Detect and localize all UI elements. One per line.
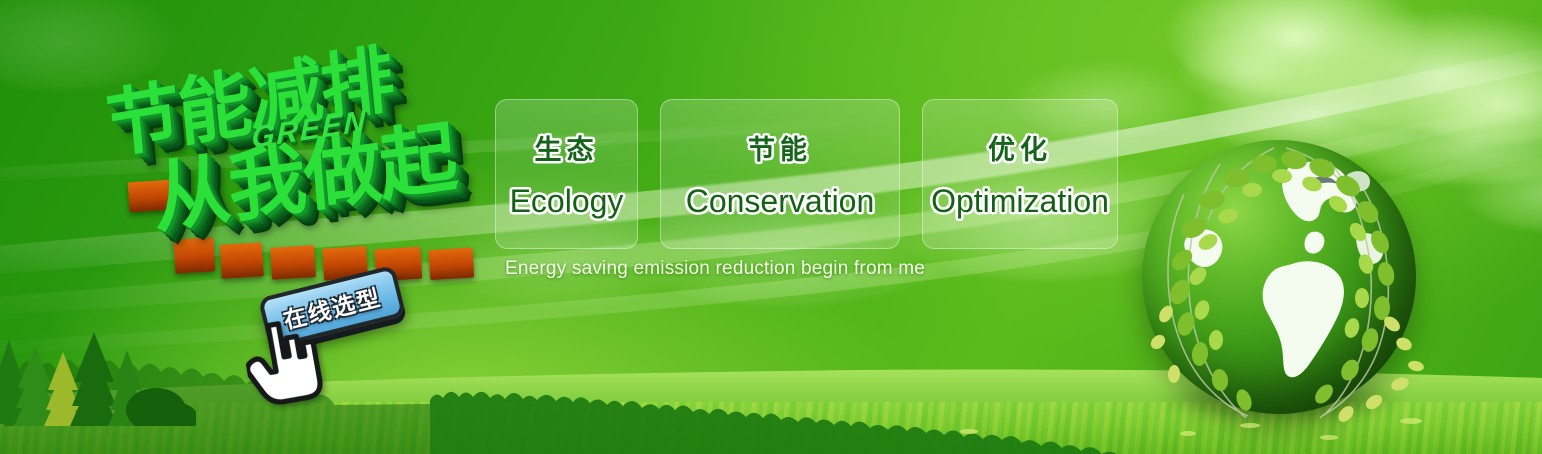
feature-card-cn-label: 生态 — [535, 128, 599, 167]
feature-card-optimization[interactable]: 优化 Optimization — [922, 99, 1118, 249]
banner-tagline: Energy saving emission reduction begin f… — [505, 258, 925, 280]
grass-fleck — [960, 429, 978, 434]
feature-card-en-label: Optimization — [931, 183, 1109, 220]
green-leaf-globe-icon — [1124, 128, 1434, 440]
title-base-block — [429, 248, 475, 281]
title-base-block — [220, 242, 264, 279]
grass-fleck — [1400, 418, 1422, 424]
green-energy-banner: 节能减排 GREEN 从我做起 在线选型 生态 Ecology 节能 Conse… — [0, 0, 1542, 454]
pointing-hand-cursor-icon — [239, 312, 331, 412]
hero-title-art: 节能减排 GREEN 从我做起 — [96, 32, 500, 295]
feature-card-cn-label: 优化 — [988, 128, 1052, 167]
feature-card-en-label: Conservation — [686, 183, 875, 220]
grass-fleck — [1180, 431, 1196, 436]
feature-card-conservation[interactable]: 节能 Conservation — [660, 99, 900, 249]
feature-card-cn-label: 节能 — [748, 128, 812, 167]
grass-fleck — [1320, 435, 1338, 440]
pine-trees-icon — [0, 326, 196, 426]
grass-fleck — [1240, 423, 1260, 428]
title-base-block — [270, 245, 316, 280]
feature-card-ecology[interactable]: 生态 Ecology — [495, 99, 638, 249]
globe-leaf-vines — [1124, 128, 1434, 440]
feature-cards: 生态 Ecology 节能 Conservation 优化 Optimizati… — [495, 99, 1118, 249]
feature-card-en-label: Ecology — [510, 183, 624, 220]
